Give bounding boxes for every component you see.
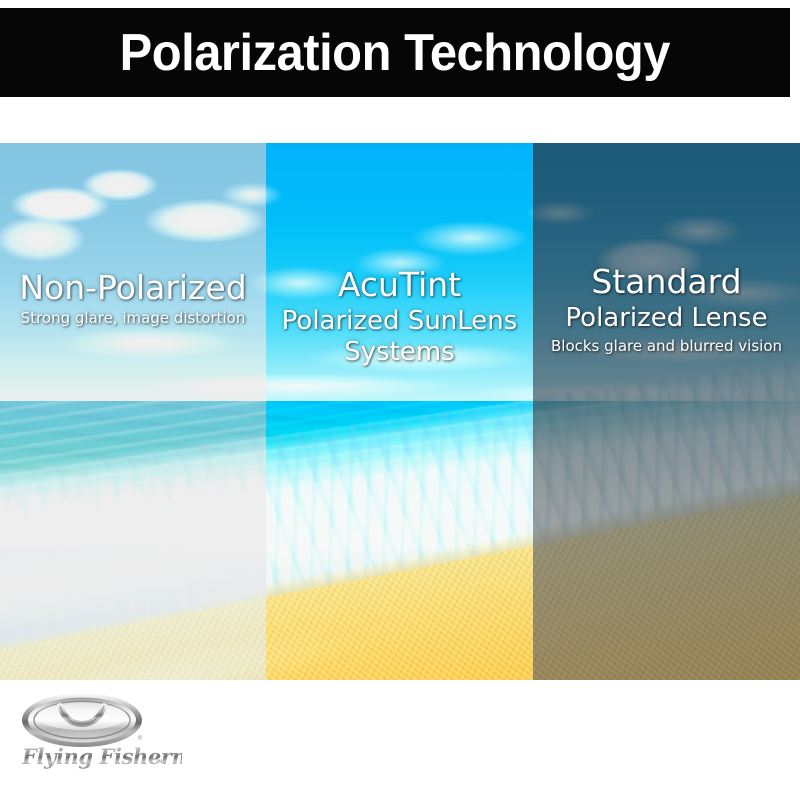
comparison-panel-non-polarized: [0, 143, 266, 680]
brand-logo: ® Flying Fisherman ™: [12, 690, 192, 782]
scene-layers: [0, 143, 266, 680]
scene-layers: [533, 143, 800, 680]
beach-scene: [533, 143, 800, 680]
scene-layers: [266, 143, 533, 680]
title-bar: Polarization Technology: [0, 8, 790, 97]
trademark-symbol: ™: [155, 758, 163, 767]
page-title: Polarization Technology: [120, 27, 670, 79]
svg-text:®: ®: [138, 735, 143, 742]
comparison-panel-standard-polarized: [533, 143, 800, 680]
beach-scene: [266, 143, 533, 680]
clouds-layer: [0, 143, 266, 411]
beach-scene: [0, 143, 266, 680]
lens-comparison-image: Non-Polarized Strong glare, image distor…: [0, 143, 800, 680]
flying-fisherman-emblem-icon: ®: [20, 690, 156, 750]
clouds-layer: [266, 143, 533, 411]
comparison-panel-acutint: [266, 143, 533, 680]
